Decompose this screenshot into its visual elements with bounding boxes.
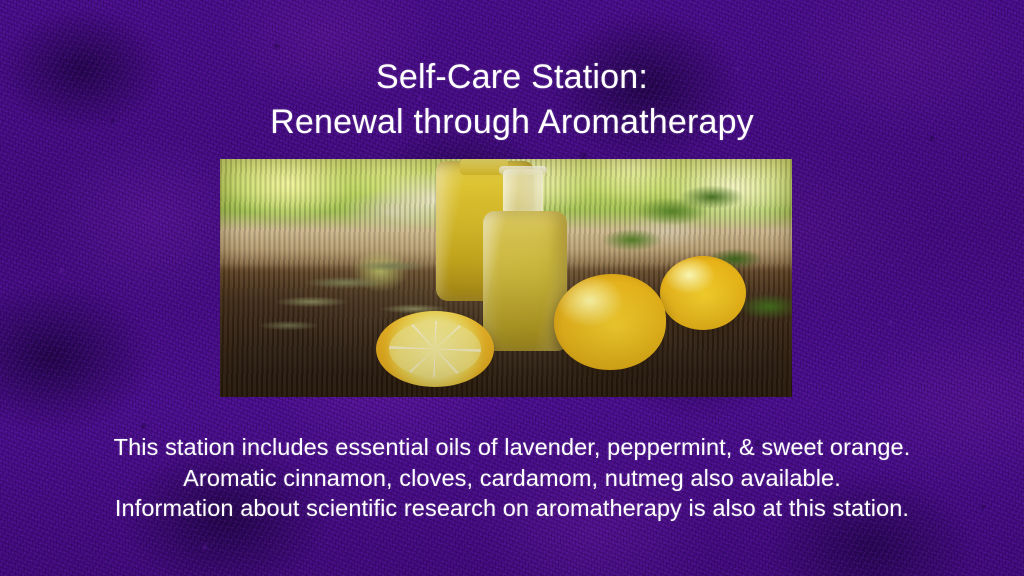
slide-title: Self-Care Station: Renewal through Aroma…: [0, 55, 1024, 145]
aromatherapy-photo: [220, 159, 792, 397]
slide-body-line-3: Information about scientific research on…: [0, 493, 1024, 524]
slide-title-line-1: Self-Care Station:: [0, 55, 1024, 100]
photo-color-grade: [220, 159, 792, 397]
presentation-slide: Self-Care Station: Renewal through Aroma…: [0, 0, 1024, 576]
slide-title-line-2: Renewal through Aromatherapy: [0, 100, 1024, 145]
slide-body-text: This station includes essential oils of …: [0, 432, 1024, 524]
slide-body-line-1: This station includes essential oils of …: [0, 432, 1024, 463]
slide-body-line-2: Aromatic cinnamon, cloves, cardamom, nut…: [0, 463, 1024, 494]
